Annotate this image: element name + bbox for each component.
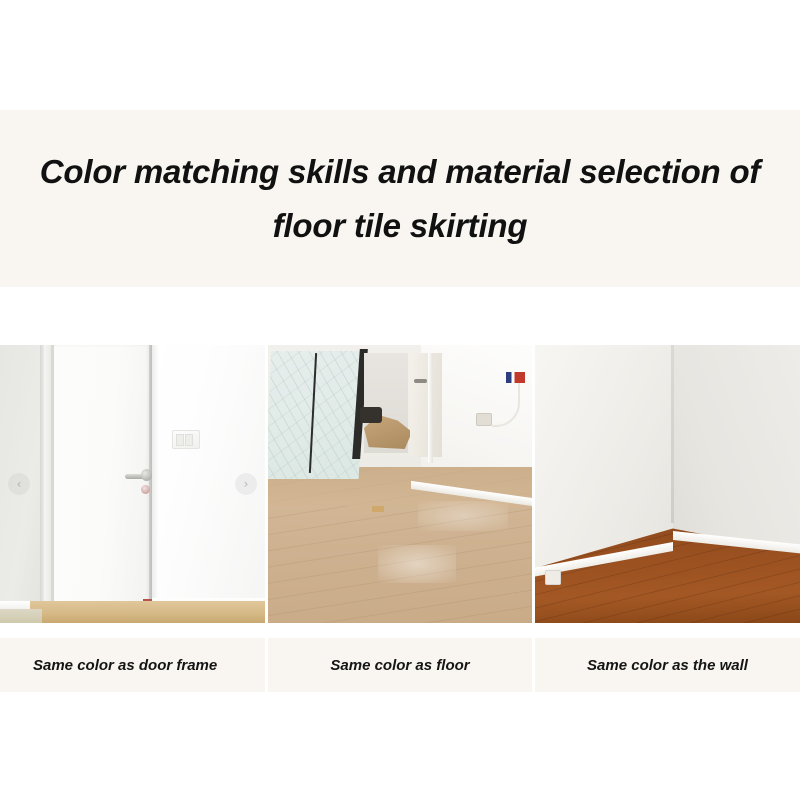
caption-label: Same color as floor bbox=[330, 657, 469, 674]
wall-sticker bbox=[506, 372, 525, 383]
gallery-panel-door-frame[interactable]: ‹ › bbox=[0, 345, 265, 623]
image-gallery: ‹ › bbox=[0, 345, 800, 623]
floor-smudge-2 bbox=[418, 501, 508, 531]
light-switch-icon bbox=[172, 430, 200, 449]
open-door bbox=[410, 353, 442, 457]
caption-row: Same color as door frame Same color as f… bbox=[0, 638, 800, 692]
caption-cell-door-frame: Same color as door frame bbox=[0, 638, 265, 692]
caption-label: Same color as the wall bbox=[587, 657, 748, 674]
wood-floor bbox=[30, 601, 265, 623]
gallery-panel-floor[interactable] bbox=[268, 345, 532, 623]
chevron-left-icon[interactable]: ‹ bbox=[8, 473, 30, 495]
photo-renovation-room bbox=[268, 345, 532, 623]
white-door bbox=[54, 345, 150, 623]
wood-floor-left bbox=[0, 609, 42, 623]
wall-corner bbox=[671, 345, 674, 523]
door-handle-rose bbox=[141, 469, 152, 481]
floor-smudge bbox=[378, 545, 456, 583]
wall-outlet-icon bbox=[545, 570, 561, 585]
photo-empty-room-corner bbox=[535, 345, 800, 623]
door-lock-icon bbox=[141, 485, 150, 494]
construction-debris-dark bbox=[360, 407, 382, 423]
wall-outlet-icon bbox=[476, 413, 492, 426]
right-wall-edge bbox=[152, 345, 159, 623]
floor-tag bbox=[372, 506, 384, 512]
page-title: Color matching skills and material selec… bbox=[0, 145, 800, 252]
gallery-panel-wall[interactable] bbox=[535, 345, 800, 623]
photo-white-door bbox=[0, 345, 265, 623]
door-handle-icon bbox=[414, 379, 427, 383]
caption-label: Same color as door frame bbox=[33, 657, 217, 674]
caption-cell-floor: Same color as floor bbox=[268, 638, 532, 692]
protective-sheeting bbox=[268, 351, 365, 479]
chevron-right-icon[interactable]: › bbox=[235, 473, 257, 495]
caption-cell-wall: Same color as the wall bbox=[535, 638, 800, 692]
title-banner: Color matching skills and material selec… bbox=[0, 110, 800, 287]
open-door-edge bbox=[428, 353, 433, 463]
